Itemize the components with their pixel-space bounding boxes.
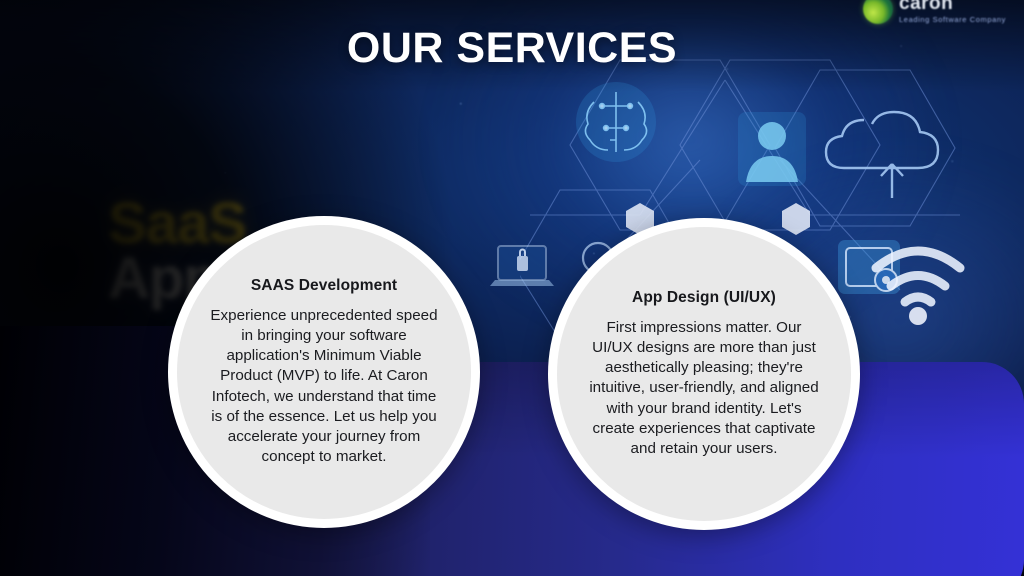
brand-logo-text: caron Leading Software Company xyxy=(899,0,1006,24)
slide-canvas: SaaS App OUR SERVICES caron Leading Soft… xyxy=(0,0,1024,576)
service-card-saas[interactable]: SAAS Development Experience unprecedente… xyxy=(168,216,480,528)
leaf-globe-icon xyxy=(863,0,893,24)
service-card-uiux[interactable]: App Design (UI/UX) First impressions mat… xyxy=(548,218,860,530)
brand-tagline: Leading Software Company xyxy=(899,16,1006,24)
service-card-content: SAAS Development Experience unprecedente… xyxy=(206,277,441,467)
page-title: OUR SERVICES xyxy=(0,24,1024,73)
brand-name: caron xyxy=(899,0,1006,13)
service-card-title: App Design (UI/UX) xyxy=(586,289,821,307)
brand-logo[interactable]: caron Leading Software Company xyxy=(863,0,1006,24)
service-card-title: SAAS Development xyxy=(206,277,441,295)
service-card-body: First impressions matter. Our UI/UX desi… xyxy=(586,318,821,458)
service-card-body: Experience unprecedented speed in bringi… xyxy=(206,306,441,467)
service-card-content: App Design (UI/UX) First impressions mat… xyxy=(586,289,821,458)
